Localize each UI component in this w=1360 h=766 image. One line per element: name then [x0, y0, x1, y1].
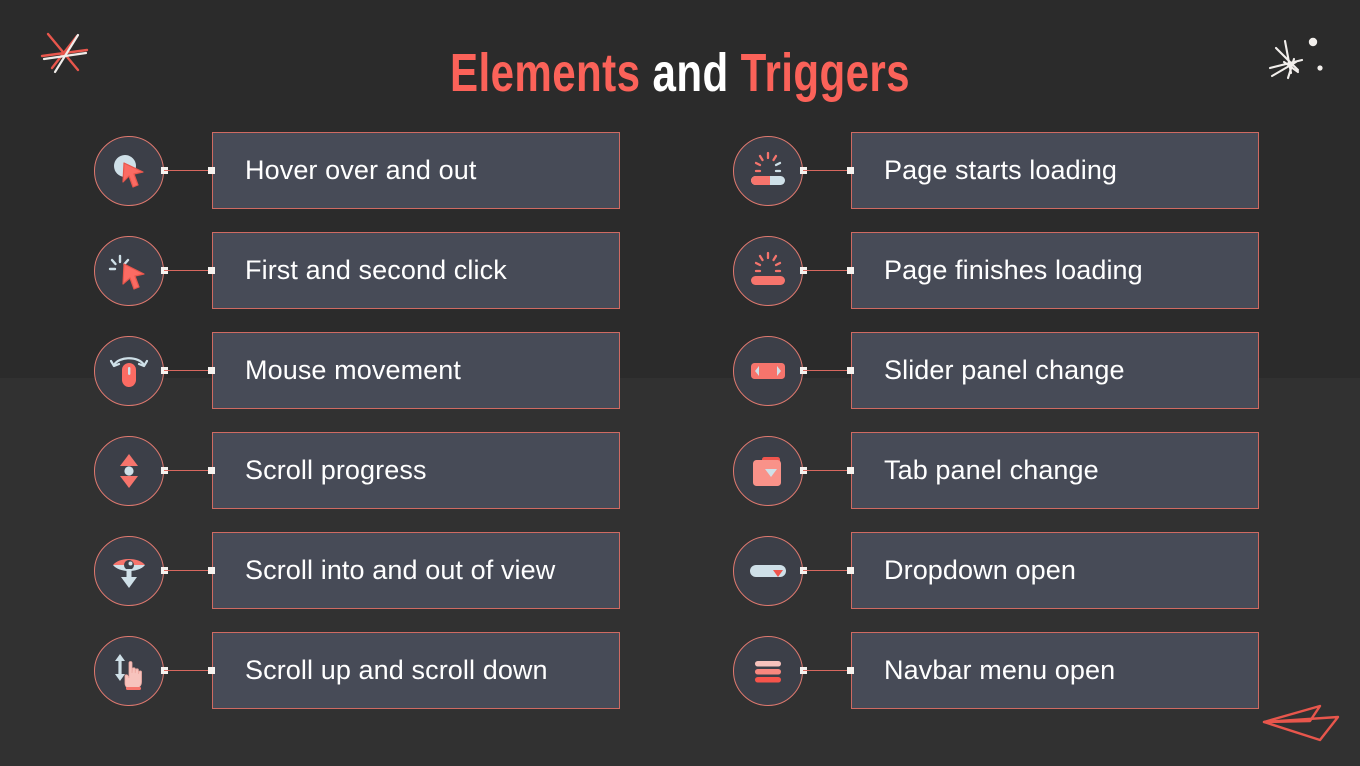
connector-stroke [803, 670, 851, 671]
connector-cap-end [208, 367, 215, 374]
list-item-label: Hover over and out [212, 132, 620, 209]
list-item-label: Page starts loading [851, 132, 1259, 209]
connector-cap-end [847, 467, 854, 474]
connector-stroke [164, 270, 212, 271]
cursor-hover-icon [94, 136, 164, 206]
list-item-label: Page finishes loading [851, 232, 1259, 309]
page-title: Elements and Triggers [150, 42, 1211, 104]
list-item-label: Scroll into and out of view [212, 532, 620, 609]
navbar-menu-icon [733, 636, 803, 706]
connector-line [164, 666, 212, 675]
list-item-label: Tab panel change [851, 432, 1259, 509]
connector-cap-end [208, 667, 215, 674]
list-item[interactable]: Navbar menu open [733, 632, 1259, 709]
list-item[interactable]: Scroll into and out of view [94, 532, 620, 609]
connector-line [803, 166, 851, 175]
column-right: Page starts loading [733, 132, 1259, 732]
connector-stroke [803, 270, 851, 271]
connector-cap-end [847, 267, 854, 274]
connector-line [164, 366, 212, 375]
loading-start-icon [733, 136, 803, 206]
connector-cap-end [208, 167, 215, 174]
tab-panel-icon [733, 436, 803, 506]
connector-line [164, 166, 212, 175]
connector-cap-end [208, 467, 215, 474]
list-item-label: Scroll up and scroll down [212, 632, 620, 709]
connector-stroke [164, 470, 212, 471]
connector-stroke [164, 370, 212, 371]
connector-line [803, 366, 851, 375]
connector-line [803, 666, 851, 675]
connector-line [164, 266, 212, 275]
title-part-elements: Elements [450, 43, 640, 103]
list-item[interactable]: Tab panel change [733, 432, 1259, 509]
connector-stroke [164, 170, 212, 171]
list-item[interactable]: Scroll up and scroll down [94, 632, 620, 709]
paper-plane-arrow-icon [1258, 696, 1354, 750]
connector-line [803, 566, 851, 575]
list-item-label: Scroll progress [212, 432, 620, 509]
list-item[interactable]: Slider panel change [733, 332, 1259, 409]
cursor-click-icon [94, 236, 164, 306]
loading-finish-icon [733, 236, 803, 306]
list-item[interactable]: Page finishes loading [733, 232, 1259, 309]
connector-cap-end [208, 567, 215, 574]
title-part-triggers: Triggers [741, 43, 910, 103]
connector-stroke [803, 370, 851, 371]
slider-panel-icon [733, 336, 803, 406]
connector-stroke [164, 570, 212, 571]
connector-stroke [803, 170, 851, 171]
dropdown-icon [733, 536, 803, 606]
list-item[interactable]: Dropdown open [733, 532, 1259, 609]
connector-stroke [164, 670, 212, 671]
connector-cap-end [208, 267, 215, 274]
list-item-label: First and second click [212, 232, 620, 309]
hand-scroll-icon [94, 636, 164, 706]
list-item-label: Navbar menu open [851, 632, 1259, 709]
connector-line [164, 566, 212, 575]
connector-cap-end [847, 667, 854, 674]
connector-line [164, 466, 212, 475]
title-part-and: and [653, 43, 729, 103]
starburst-coral-icon [32, 18, 96, 86]
connector-cap-end [847, 167, 854, 174]
list-item[interactable]: Mouse movement [94, 332, 620, 409]
connector-cap-end [847, 367, 854, 374]
list-item[interactable]: Scroll progress [94, 432, 620, 509]
starburst-white-icon [1258, 26, 1342, 92]
connector-line [803, 266, 851, 275]
list-item[interactable]: Hover over and out [94, 132, 620, 209]
list-item-label: Dropdown open [851, 532, 1259, 609]
eye-scroll-view-icon [94, 536, 164, 606]
connector-cap-end [847, 567, 854, 574]
list-item-label: Mouse movement [212, 332, 620, 409]
column-left: Hover over and out [94, 132, 620, 732]
slide-canvas: Elements and Triggers [0, 0, 1360, 766]
mouse-movement-icon [94, 336, 164, 406]
connector-stroke [803, 470, 851, 471]
connector-line [803, 466, 851, 475]
list-item[interactable]: Page starts loading [733, 132, 1259, 209]
scroll-progress-icon [94, 436, 164, 506]
list-item-label: Slider panel change [851, 332, 1259, 409]
list-item[interactable]: First and second click [94, 232, 620, 309]
connector-stroke [803, 570, 851, 571]
